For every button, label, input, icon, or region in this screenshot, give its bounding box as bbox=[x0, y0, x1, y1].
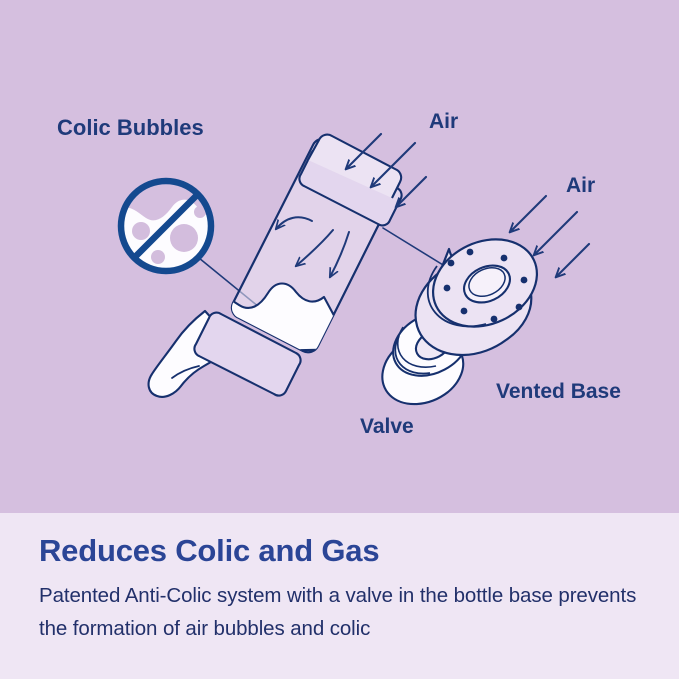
bubble-1 bbox=[132, 222, 150, 240]
label-vented-base: Vented Base bbox=[496, 380, 621, 403]
vent-hole bbox=[444, 285, 451, 292]
no-colic-bubbles-symbol bbox=[116, 181, 221, 280]
air-arrow-right-1 bbox=[510, 196, 546, 232]
vent-hole bbox=[491, 316, 498, 323]
label-air-right: Air bbox=[566, 174, 595, 197]
caption-panel: Reduces Colic and Gas Patented Anti-Coli… bbox=[0, 513, 679, 679]
diagram-panel: Colic Bubbles Air Air Valve Vented Base bbox=[0, 0, 679, 513]
vent-hole bbox=[521, 277, 528, 284]
label-colic-bubbles: Colic Bubbles bbox=[57, 115, 204, 140]
vented-base-disc bbox=[416, 223, 552, 355]
vent-hole bbox=[461, 308, 468, 315]
product-feature-card: Colic Bubbles Air Air Valve Vented Base … bbox=[0, 0, 679, 679]
vent-hole bbox=[467, 249, 474, 256]
vent-hole bbox=[501, 255, 508, 262]
vent-hole bbox=[516, 304, 523, 311]
air-arrow-right-2 bbox=[534, 212, 577, 255]
caption-title: Reduces Colic and Gas bbox=[39, 533, 379, 569]
bubble-2 bbox=[170, 224, 198, 252]
label-valve: Valve bbox=[360, 415, 414, 438]
label-air-left: Air bbox=[429, 110, 458, 133]
anti-colic-diagram: Colic Bubbles Air Air Valve Vented Base bbox=[0, 0, 679, 513]
vent-hole bbox=[448, 260, 455, 267]
leader-line-vented-base bbox=[383, 228, 448, 268]
bubble-3 bbox=[151, 250, 165, 264]
air-arrow-right-3 bbox=[556, 244, 589, 277]
caption-body: Patented Anti-Colic system with a valve … bbox=[39, 579, 654, 645]
